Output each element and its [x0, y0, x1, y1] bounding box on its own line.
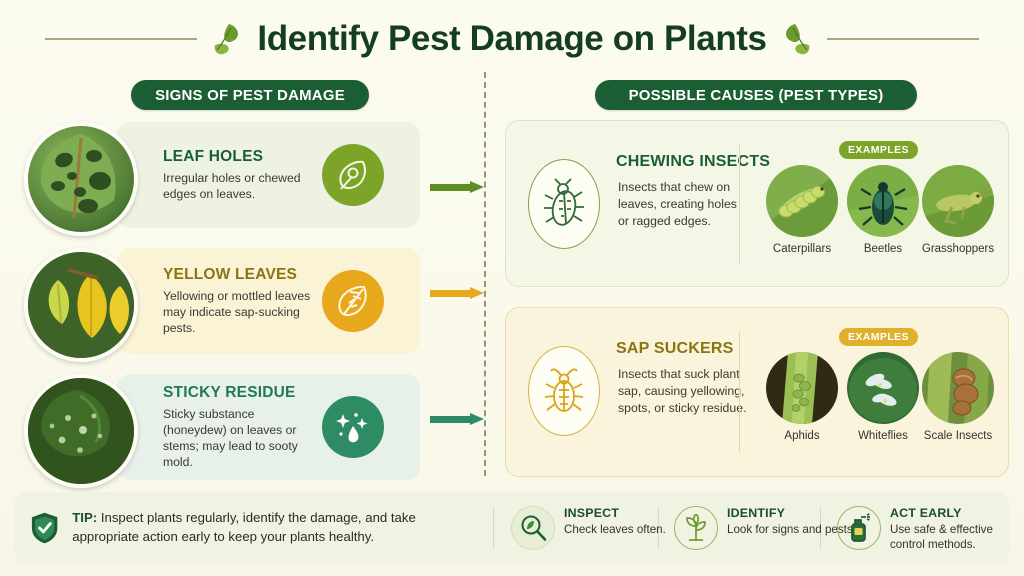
sign-description: Irregular holes or chewed edges on leave…: [163, 170, 313, 202]
aphids-photo: [766, 352, 838, 424]
sign-title: STICKY RESIDUE: [163, 384, 313, 402]
step-title: ACT EARLY: [890, 506, 1010, 520]
example-label: Caterpillars: [763, 243, 841, 255]
example-whiteflies: Whiteflies: [844, 352, 922, 442]
example-aphids: Aphids: [763, 352, 841, 442]
leaf-with-holes-photo: [24, 122, 138, 236]
whiteflies-photo: [847, 352, 919, 424]
cause-panel-sap-suckers: SAP SUCKERS Insects that suck plant sap,…: [505, 307, 1009, 477]
section-badge-causes: POSSIBLE CAUSES (PEST TYPES): [595, 80, 917, 110]
cause-title: SAP SUCKERS: [616, 340, 734, 358]
cause-description: Insects that chew on leaves, creating ho…: [618, 179, 750, 230]
example-grasshoppers: Grasshoppers: [919, 165, 997, 255]
example-label: Scale Insects: [919, 430, 997, 442]
yellow-leaves-photo: [24, 248, 138, 362]
page-title: Identify Pest Damage on Plants: [257, 19, 766, 59]
step-description: Check leaves often.: [564, 522, 666, 537]
leaf-sprig-icon: [207, 19, 247, 59]
footer-separator: [493, 507, 494, 549]
tip-label: TIP:: [72, 510, 97, 525]
step-title: INSPECT: [564, 506, 666, 520]
footer-step-identify: IDENTIFY Look for signs and pests.: [674, 506, 856, 552]
sticky-leaves-photo: [24, 374, 138, 488]
examples-pill: EXAMPLES: [839, 328, 918, 346]
header-rule-right: [827, 38, 979, 40]
infographic-canvas: Identify Pest Damage on Plants SIGNS OF …: [0, 0, 1024, 576]
example-caterpillars: Caterpillars: [763, 165, 841, 255]
tip-box: TIP: Inspect plants regularly, identify …: [30, 492, 485, 564]
header-rule-left: [45, 38, 197, 40]
tip-body: Inspect plants regularly, identify the d…: [72, 510, 416, 544]
tip-text: TIP: Inspect plants regularly, identify …: [72, 509, 485, 546]
caterpillar-photo: [766, 165, 838, 237]
step-description: Use safe & effective control methods.: [890, 522, 1010, 552]
footer-bar: TIP: Inspect plants regularly, identify …: [14, 492, 1010, 564]
section-badge-signs: SIGNS OF PEST DAMAGE: [131, 80, 369, 110]
beetle-icon: [528, 159, 600, 249]
header: Identify Pest Damage on Plants: [0, 8, 1024, 70]
sprout-icon: [674, 506, 718, 550]
column-divider: [484, 72, 486, 476]
scale-insects-photo: [922, 352, 994, 424]
footer-step-inspect: INSPECT Check leaves often.: [511, 506, 666, 552]
leaf-hole-icon: [322, 144, 384, 206]
sign-title: YELLOW LEAVES: [163, 266, 313, 284]
examples-pill: EXAMPLES: [839, 141, 918, 159]
example-scale-insects: Scale Insects: [919, 352, 997, 442]
magnifier-leaf-icon: [511, 506, 555, 550]
shield-check-icon: [30, 502, 59, 554]
sign-title: LEAF HOLES: [163, 148, 313, 166]
cause-title: CHEWING INSECTS: [616, 153, 770, 171]
example-beetles: Beetles: [844, 165, 922, 255]
sign-description: Sticky substance (honeydew) on leaves or…: [163, 406, 313, 471]
panel-separator: [739, 332, 740, 452]
leaf-veins-icon: [322, 270, 384, 332]
example-label: Whiteflies: [844, 430, 922, 442]
cause-panel-chewing-insects: CHEWING INSECTS Insects that chew on lea…: [505, 120, 1009, 287]
droplet-sparkle-icon: [322, 396, 384, 458]
example-label: Grasshoppers: [919, 243, 997, 255]
grasshopper-photo: [922, 165, 994, 237]
example-label: Beetles: [844, 243, 922, 255]
panel-separator: [739, 145, 740, 263]
beetle-photo: [847, 165, 919, 237]
example-label: Aphids: [763, 430, 841, 442]
spray-bottle-icon: [837, 506, 881, 550]
sign-description: Yellowing or mottled leaves may indicate…: [163, 288, 313, 337]
aphid-icon: [528, 346, 600, 436]
cause-description: Insects that suck plant sap, causing yel…: [618, 366, 750, 417]
leaf-sprig-icon: [777, 19, 817, 59]
footer-step-act-early: ACT EARLY Use safe & effective control m…: [837, 506, 1010, 552]
